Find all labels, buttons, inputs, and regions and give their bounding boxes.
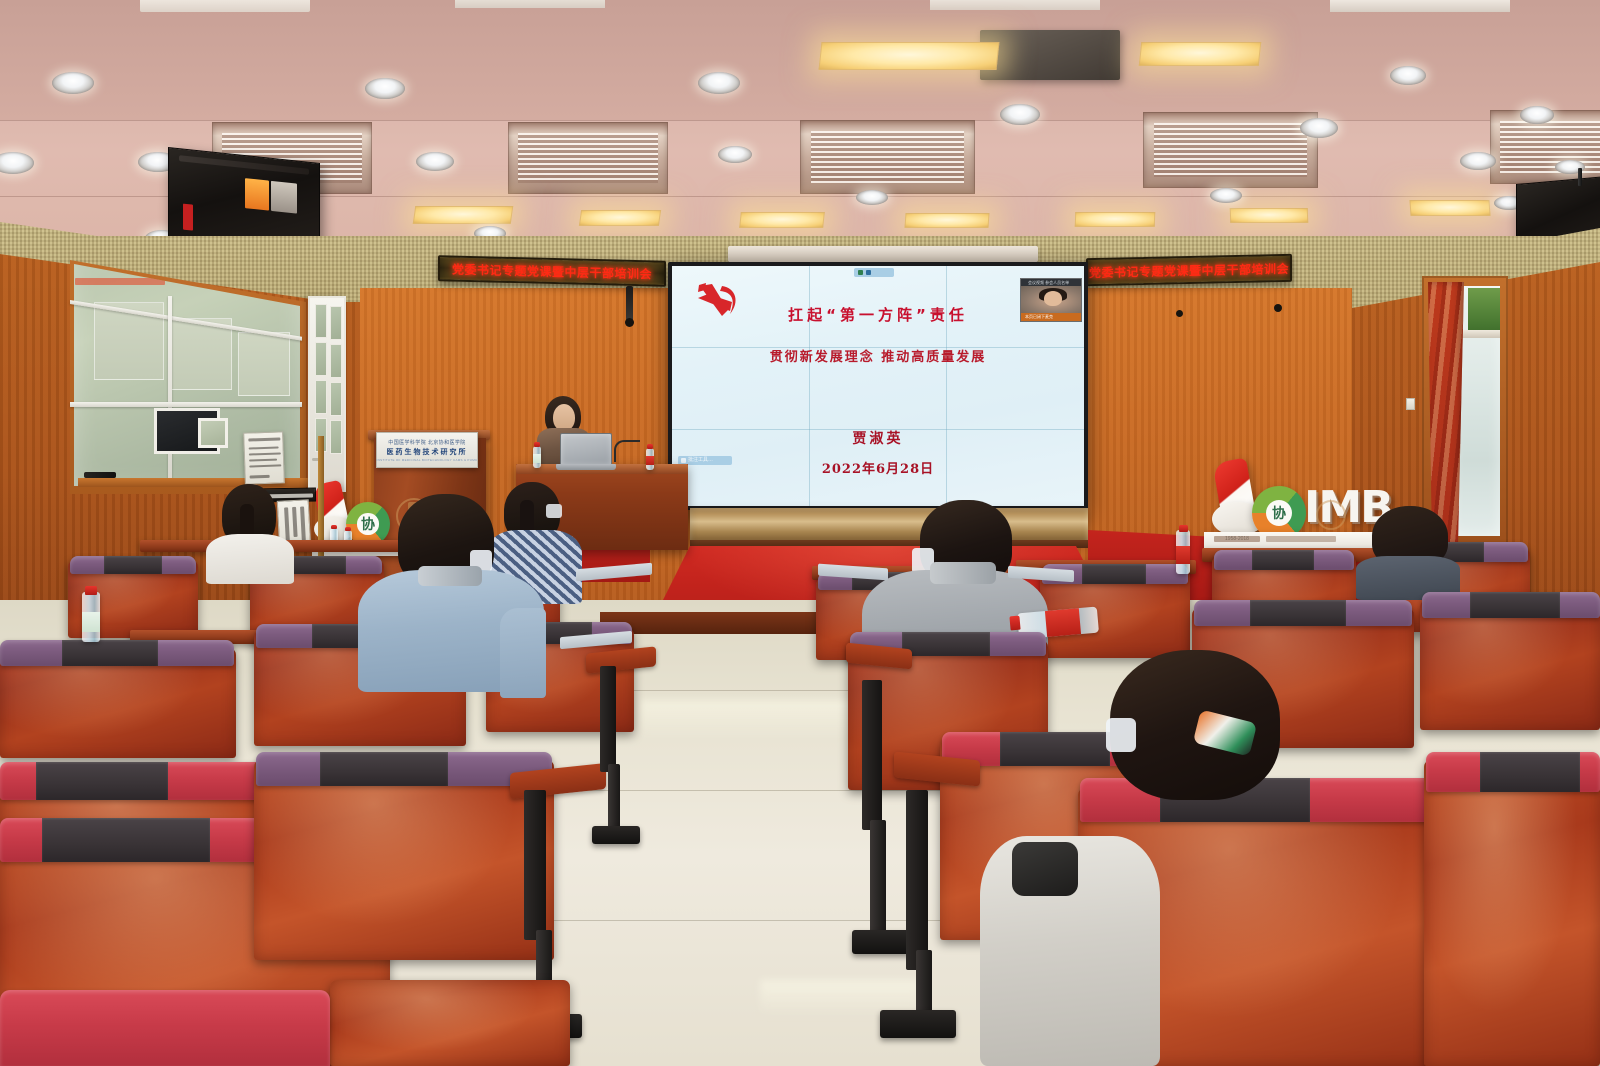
display-wall: 扛起“第一方阵”责任 贯彻新发展理念 推动高质量发展 贾淑英 2022年6月28… [668,262,1088,510]
audience-bag-a6 [1012,842,1078,896]
screen-top-rail [728,246,1038,262]
downlight [52,72,94,94]
bottle-label [82,612,100,632]
video-inset-title: 会议视频 参会人员名单 [1021,279,1081,286]
audience-arm-a3 [500,608,546,698]
window-blind [170,318,232,390]
bottle-cap [345,527,351,531]
gooseneck-microphone [614,440,640,462]
seat-row3-l2[interactable] [254,760,554,960]
video-inset-status: 本页已闭下麦克 [1021,313,1081,321]
laptop-base[interactable] [556,464,616,470]
bottle-cap [1179,525,1188,532]
ceiling-panel [455,0,605,8]
seat-stripe [902,632,990,656]
window-curtain [1428,282,1464,544]
remote-control[interactable] [84,472,116,478]
downlight [718,146,752,163]
seat-stripe [36,762,168,800]
video-inset-status-text: 本页已闭下麦克 [1021,313,1081,321]
video-conference-inset[interactable]: 会议视频 参会人员名单 本页已闭下麦克 [1020,278,1082,322]
face-mask-a6 [1106,718,1136,752]
ceiling-panel [140,0,310,12]
bottle-cap [1009,616,1020,631]
seat-stripe [288,556,346,574]
ceiling-air-vent [1143,112,1318,188]
window-mullion [70,402,302,407]
easel-post [318,436,324,556]
bottle-cap [534,442,540,447]
downlight [1520,106,1554,124]
ceiling-panel-light [904,213,989,228]
downlight [1000,104,1040,125]
logo-years: 1958-2018 [1214,536,1260,542]
bottle-label [1176,546,1190,564]
podium-sign-line3: INSTITUTE OF MEDICINAL BIOTECHNOLOGY CAM… [377,458,478,462]
ceiling-microphone [626,286,633,322]
led-banner-left: 党委书记专题党课暨中层干部培训会 [438,255,666,287]
ceiling-panel-light [1230,208,1309,223]
led-banner-right-text: 党委书记专题党课暨中层干部培训会 [1089,259,1289,280]
poster-upper [243,431,285,484]
bottle-label [1045,608,1081,637]
ceiling-panel-light [1139,42,1262,66]
seat-stripe [320,752,448,786]
ceiling-panel-light [819,42,1000,70]
face-mask-a2 [546,504,562,518]
speaker-label [245,178,269,211]
sensor-dot [1176,310,1183,317]
bottle-cap [85,586,97,595]
audience-collar-a3 [418,566,482,586]
ceiling-panel [930,0,1100,10]
audience-collar-a4 [930,562,996,584]
seat-side-panel [524,790,546,940]
seat-stripe [104,556,162,574]
water-bottle [533,446,541,468]
seat-stripe [62,640,158,666]
seat-stripe [1470,592,1560,618]
booth-hatch-pane [198,418,228,448]
toolbar-icon-blue[interactable] [866,270,871,275]
video-inset-feed [1021,286,1081,313]
downlight [365,78,405,99]
seat-stripe [1250,600,1346,626]
speaker-indicator [183,204,193,231]
ceiling-equipment-panel [980,30,1120,80]
video-inset-titlebar: 会议视频 参会人员名单 [1021,279,1081,286]
slide-subtitle: 贯彻新发展理念 推动高质量发展 [672,346,1084,365]
window-blind [238,332,290,396]
led-banner-left-text: 党委书记专题党课暨中层干部培训会 [452,260,652,282]
logo-caption [1266,536,1336,542]
speaker-label-text [271,181,297,214]
downlight [698,72,740,94]
seat-stripe [1082,564,1146,584]
seat-stripe [42,818,210,862]
ceiling-air-vent [800,120,975,194]
ceiling-panel-light [579,210,661,226]
logo-zero-glyph: 协 [357,513,378,534]
downlight [1390,66,1426,85]
screen-toolbar[interactable] [854,268,894,277]
ceiling-panel-light [739,212,825,228]
banner-reflection [75,278,165,285]
window-foliage [1468,288,1500,332]
bottle-label [533,454,541,463]
bottle-label [646,456,654,465]
bottle-cap [331,525,337,529]
water-bottle [646,448,654,470]
presentation-screen[interactable]: 扛起“第一方阵”责任 贯彻新发展理念 推动高质量发展 贾淑英 2022年6月28… [672,266,1084,506]
downlight [416,152,454,171]
ceiling-upper-band [0,0,1600,120]
podium-nameplate: 中国医学科学院 北京协和医学院 医药生物技术研究所 INSTITUTE OF M… [376,432,478,468]
wall-medallion [1316,500,1346,530]
light-switch[interactable] [1406,398,1415,410]
podium-sign-line2: 医药生物技术研究所 [387,447,468,457]
water-bottle [82,592,100,642]
seat-stripe [1480,752,1580,792]
seat-leg [870,820,886,940]
laptop-screen[interactable] [560,433,612,466]
ceiling-panel-light [1409,200,1490,216]
audience-body-a1 [206,534,294,584]
stage-front-panel [690,508,1088,542]
conference-room-photo: 党委书记专题党课暨中层干部培训会 党委书记专题党课暨中层干部培训会 [0,0,1600,1066]
participant-face [1044,291,1062,306]
seat-cushion [0,990,330,1066]
water-bottle [1176,530,1190,574]
window-mullion [168,296,172,482]
seat-side-panel [906,790,928,970]
seat-row3-r3[interactable] [1424,760,1600,1066]
chip-label: 批注工具… [688,456,713,465]
downlight [1300,118,1338,138]
ceiling-panel-light [1075,212,1156,227]
toolbar-icon-green[interactable] [858,270,863,275]
seat-leg [608,764,620,834]
podium-sign-line1: 中国医学科学院 北京协和医学院 [388,439,465,446]
ceiling-air-vent [508,122,668,194]
booth-door[interactable] [308,296,346,492]
speaker-face [553,404,575,431]
seat-foreground-partial[interactable] [330,980,570,1066]
bottle-cap [647,444,653,449]
downlight [1210,188,1242,203]
seat-stripe [1252,550,1314,570]
ceiling-panel-light [413,206,514,224]
seat-foot [592,826,640,844]
seat-stripe [1000,732,1110,766]
ceiling-panel [1330,0,1510,12]
downlight [856,190,888,205]
sensor-dot [1274,304,1282,312]
seat-side-panel [600,666,616,772]
logo-zero-glyph: 协 [1266,500,1292,526]
seat-foot [880,1010,956,1038]
downlight [1460,152,1496,170]
slide-date: 2022年6月28日 [672,458,1084,477]
speaker-mount [1578,168,1582,186]
microphone-capsule [625,318,634,327]
seat-row2-r3[interactable] [1420,600,1600,730]
floor-reflection [640,700,860,740]
slide-author: 贾淑英 [672,428,1084,448]
chip-icon [681,458,686,463]
led-banner-right: 党委书记专题党课暨中层干部培训会 [1086,254,1292,286]
seat-side-panel [862,680,882,830]
